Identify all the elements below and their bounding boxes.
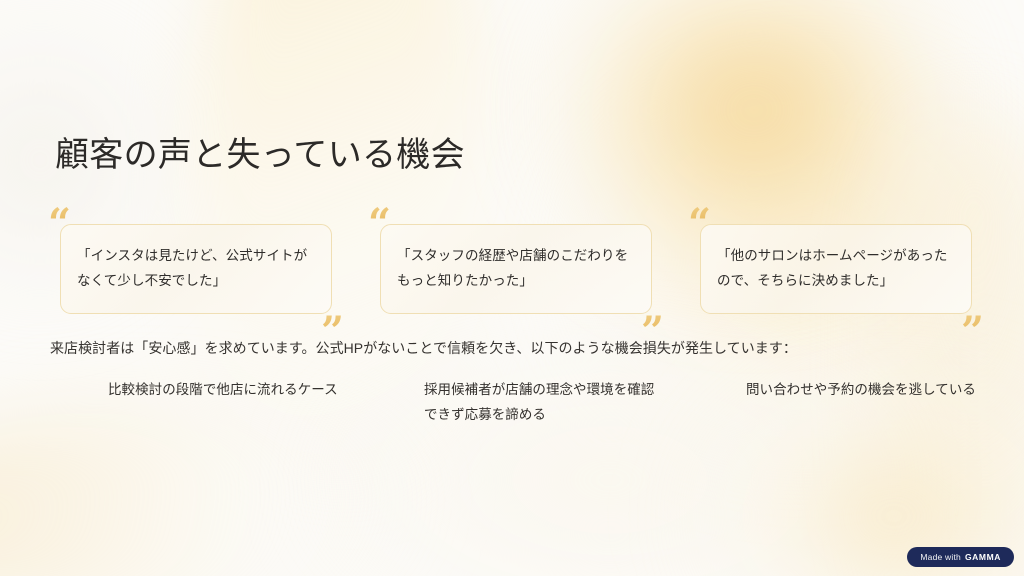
badge-brand-label: GAMMA bbox=[965, 552, 1001, 562]
quote-card-body: 「スタッフの経歴や店舗のこだわりをもっと知りたかった」 bbox=[380, 224, 652, 314]
loss-item: 比較検討の段階で他店に流れるケース bbox=[46, 378, 346, 428]
quote-text: 「インスタは見たけど、公式サイトがなくて少し不安でした」 bbox=[77, 244, 315, 294]
quote-card-body: 「インスタは見たけど、公式サイトがなくて少し不安でした」 bbox=[60, 224, 332, 314]
lead-paragraph: 来店検討者は「安心感」を求めています。公式HPがないことで信頼を欠き、以下のよう… bbox=[50, 337, 797, 359]
page-title: 顧客の声と失っている機会 bbox=[55, 134, 465, 177]
quote-card: “ 「他のサロンはホームページがあったので、そちらに決めました」 ” bbox=[686, 208, 986, 330]
loss-text: 比較検討の段階で他店に流れるケース bbox=[108, 378, 346, 403]
loss-item: 問い合わせや予約の機会を逃している bbox=[686, 378, 986, 428]
loss-text: 問い合わせや予約の機会を逃している bbox=[746, 378, 986, 403]
quote-card: “ 「スタッフの経歴や店舗のこだわりをもっと知りたかった」 ” bbox=[366, 208, 666, 330]
made-with-gamma-badge[interactable]: Made with GAMMA bbox=[907, 547, 1014, 567]
quote-close-icon: ” bbox=[961, 312, 984, 352]
slide-content: 顧客の声と失っている機会 “ 「インスタは見たけど、公式サイトがなくて少し不安で… bbox=[0, 0, 1024, 576]
slide-canvas: 顧客の声と失っている機会 “ 「インスタは見たけど、公式サイトがなくて少し不安で… bbox=[0, 0, 1024, 576]
quote-text: 「他のサロンはホームページがあったので、そちらに決めました」 bbox=[717, 244, 955, 294]
loss-text: 採用候補者が店舗の理念や環境を確認できず応募を諦める bbox=[424, 378, 666, 428]
badge-made-with-label: Made with bbox=[920, 552, 961, 562]
quote-card-body: 「他のサロンはホームページがあったので、そちらに決めました」 bbox=[700, 224, 972, 314]
quote-text: 「スタッフの経歴や店舗のこだわりをもっと知りたかった」 bbox=[397, 244, 635, 294]
customer-quotes-row: “ 「インスタは見たけど、公式サイトがなくて少し不安でした」 ” “ 「スタッフ… bbox=[46, 208, 986, 330]
loss-item: 採用候補者が店舗の理念や環境を確認できず応募を諦める bbox=[366, 378, 666, 428]
opportunity-loss-row: 比較検討の段階で他店に流れるケース 採用候補者が店舗の理念や環境を確認できず応募… bbox=[46, 378, 996, 428]
quote-card: “ 「インスタは見たけど、公式サイトがなくて少し不安でした」 ” bbox=[46, 208, 346, 330]
